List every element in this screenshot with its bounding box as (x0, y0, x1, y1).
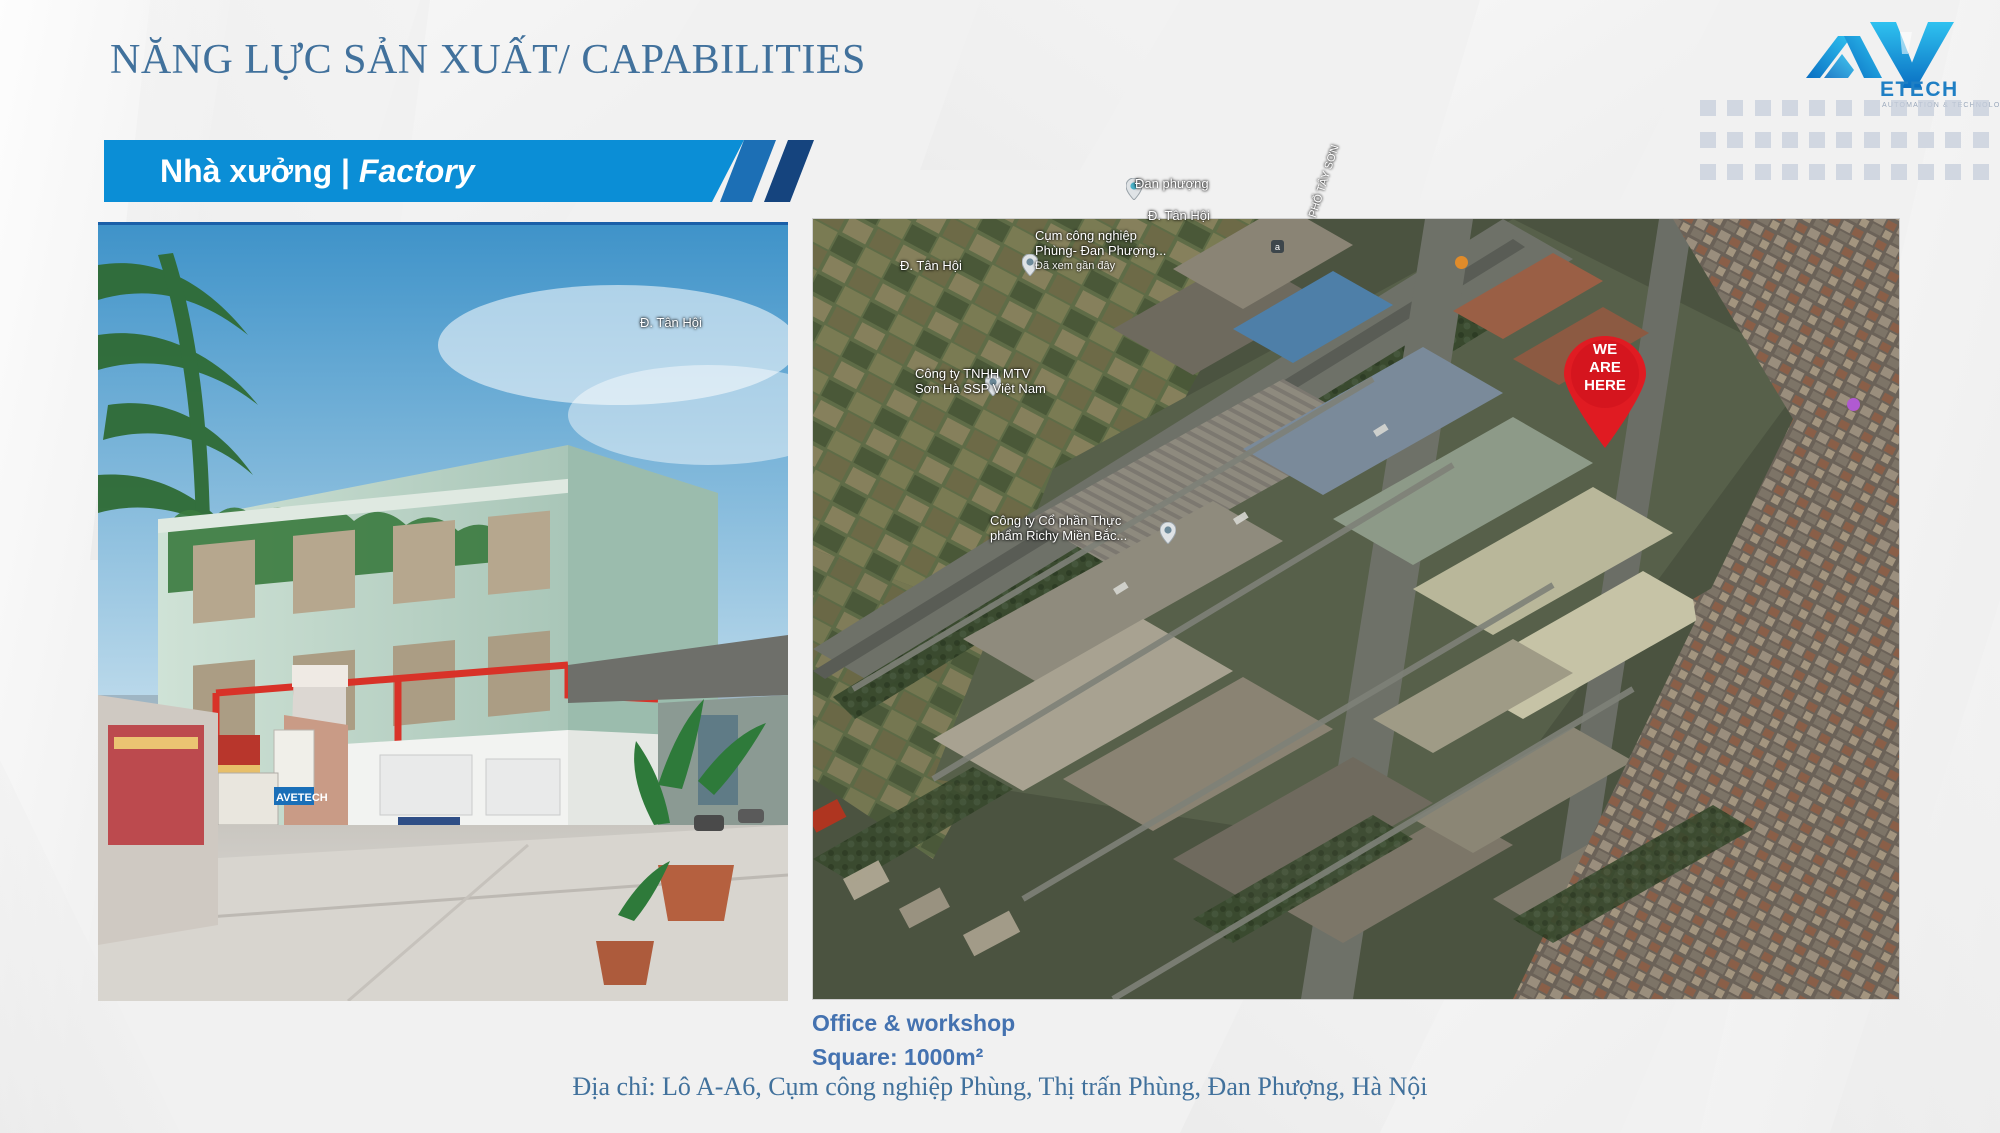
section-banner: Nhà xưởng | Factory (104, 140, 784, 202)
address-line: Địa chỉ: Lô A-A6, Cụm công nghiệp Phùng,… (0, 1072, 2000, 1102)
we-are-here-marker[interactable]: WE ARE HERE (1564, 336, 1646, 448)
page-title: NĂNG LỰC SẢN XUẤT/ CAPABILITIES (110, 36, 866, 84)
factory-photo: AVETECH (98, 222, 788, 1001)
caption-square: Square: 1000m² (812, 1040, 1898, 1074)
section-banner-label: Nhà xưởng | Factory (160, 140, 474, 202)
we-are-here-line-2: ARE (1564, 359, 1646, 377)
satellite-map[interactable] (812, 218, 1900, 1000)
caption-office-workshop: Office & workshop (812, 1006, 1898, 1040)
map-caption-block: Office & workshop Square: 1000m² (812, 1006, 1898, 1074)
factory-photo-illustration: AVETECH (98, 225, 788, 1001)
section-banner-label-en: Factory (359, 153, 475, 189)
we-are-here-line-3: HERE (1564, 377, 1646, 395)
svg-text:AVETECH: AVETECH (276, 792, 328, 804)
decorative-dot-grid (1700, 92, 2000, 188)
section-banner-label-vi: Nhà xưởng | (160, 153, 359, 189)
we-are-here-line-1: WE (1564, 341, 1646, 359)
satellite-map-imagery (813, 219, 1899, 999)
